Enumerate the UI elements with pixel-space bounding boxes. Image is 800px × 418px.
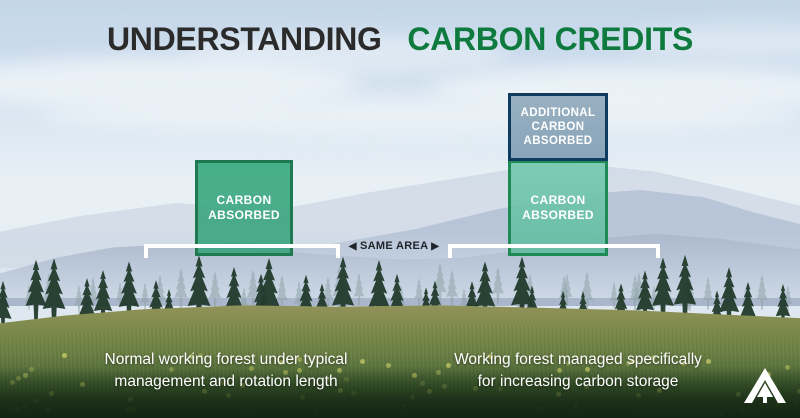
bar-right-top-label-line1: ADDITIONAL [521, 107, 596, 119]
same-area-annotation: ◀ SAME AREA ▶ [340, 240, 448, 252]
page-title: UNDERSTANDING CARBON CREDITS [0, 22, 800, 57]
title-part-carbon-credits: CARBON CREDITS [407, 21, 693, 57]
arrow-right-icon: ▶ [431, 241, 439, 252]
bar-left-label-line1: CARBON [216, 193, 271, 207]
caption-left: Normal working forest under typical mana… [46, 349, 406, 393]
caption-left-line1: Normal working forest under typical [105, 351, 348, 368]
bar-right-bottom-label-line1: CARBON [530, 193, 585, 207]
infographic-canvas: UNDERSTANDING CARBON CREDITS CARBON ABSO… [0, 0, 800, 418]
bar-right-top-label-line3: ABSORBED [523, 135, 592, 147]
caption-right-line1: Working forest managed specifically [454, 351, 702, 368]
bar-right-carbon-absorbed: CARBON ABSORBED [508, 160, 608, 256]
bar-right-additional-carbon-absorbed: ADDITIONAL CARBON ABSORBED [508, 93, 608, 161]
same-area-label: SAME AREA [360, 240, 428, 252]
caption-left-line2: management and rotation length [114, 373, 337, 390]
triangle-arrow-logo-icon [742, 362, 788, 408]
bar-left-carbon-absorbed: CARBON ABSORBED [195, 160, 293, 256]
cloud-band-5 [40, 96, 800, 136]
bracket-left-same-area [144, 244, 340, 258]
bar-right-bottom-label-line2: ABSORBED [522, 208, 594, 222]
arrow-left-icon: ◀ [349, 241, 357, 252]
bar-right-top-label-line2: CARBON [532, 121, 585, 133]
caption-right-line2: for increasing carbon storage [478, 373, 679, 390]
brand-logo [742, 362, 788, 408]
bracket-right-same-area [448, 244, 660, 258]
bar-left-label-line2: ABSORBED [208, 208, 280, 222]
caption-right: Working forest managed specifically for … [398, 349, 758, 393]
title-part-understanding: UNDERSTANDING [107, 21, 382, 57]
